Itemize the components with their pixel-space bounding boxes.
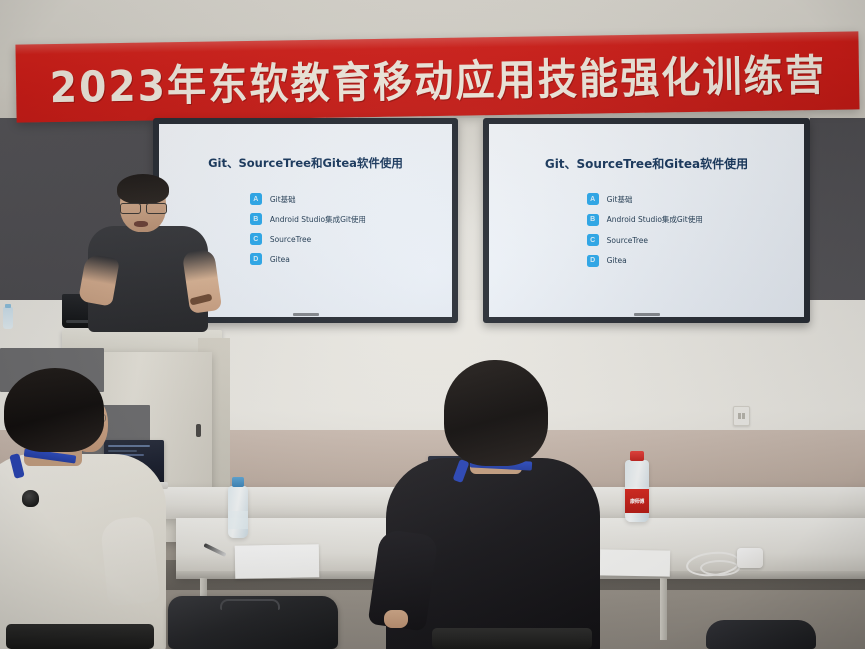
bullet-label-c: SourceTree xyxy=(270,235,311,244)
bag-on-floor[interactable] xyxy=(706,620,816,649)
coiled-cable xyxy=(700,560,740,576)
bullet-badge-a: A xyxy=(587,193,599,205)
water-bottle-red-cap[interactable]: 康师傅 xyxy=(625,460,649,522)
display-screen-right[interactable]: Git、SourceTree和Gitea软件使用 A Git基础 B Andro… xyxy=(483,118,810,323)
bullet-label-d: Gitea xyxy=(607,256,627,265)
bottle-label xyxy=(228,511,248,529)
student-hand xyxy=(384,610,408,628)
bullet-label-d: Gitea xyxy=(270,255,290,264)
glasses-icon xyxy=(120,203,167,212)
blackboard-right-edge xyxy=(810,118,865,318)
slide-bullet: A Git基础 xyxy=(250,193,366,205)
podium-latch[interactable] xyxy=(196,424,201,437)
bullet-label-b: Android Studio集成Git使用 xyxy=(270,214,366,225)
bottle-cap-icon xyxy=(232,477,244,487)
screen-brand-logo xyxy=(634,313,660,316)
wall-socket-icon xyxy=(733,406,750,426)
slide-bullet: D Gitea xyxy=(250,253,366,265)
slide-bullet: A Git基础 xyxy=(587,193,703,205)
slide-bullets-left: A Git基础 B Android Studio集成Git使用 C Source… xyxy=(250,193,366,273)
banner-text: 2023年东软教育移动应用技能强化训练营 xyxy=(49,40,826,114)
sheet-of-paper[interactable] xyxy=(235,544,320,578)
screen-brand-logo xyxy=(293,313,319,316)
bullet-badge-a: A xyxy=(250,193,262,205)
slide-bullet: B Android Studio集成Git使用 xyxy=(587,214,703,226)
student-white-shirt xyxy=(0,368,170,649)
bullet-badge-c: C xyxy=(250,233,262,245)
slide-surface-right: Git、SourceTree和Gitea软件使用 A Git基础 B Andro… xyxy=(489,124,804,317)
chair[interactable] xyxy=(6,624,154,649)
bullet-badge-b: B xyxy=(250,213,262,225)
sheet-of-paper[interactable] xyxy=(600,549,670,576)
student-arm xyxy=(100,516,161,607)
student-hair xyxy=(4,368,104,452)
water-bottle-on-ledge xyxy=(3,307,13,329)
instructor xyxy=(82,178,222,338)
bullet-label-c: SourceTree xyxy=(607,236,648,245)
backpack-on-floor[interactable] xyxy=(168,596,338,649)
bullet-badge-c: C xyxy=(587,234,599,246)
water-bottle-blue-cap[interactable] xyxy=(228,486,248,538)
instructor-mouth xyxy=(134,221,148,227)
slide-bullet: B Android Studio集成Git使用 xyxy=(250,213,366,225)
slide-bullet: C SourceTree xyxy=(250,233,366,245)
bullet-label-b: Android Studio集成Git使用 xyxy=(607,214,703,225)
classroom-scene: 2023年东软教育移动应用技能强化训练营 Git、SourceTree和Gite… xyxy=(0,0,865,649)
bullet-badge-d: D xyxy=(250,253,262,265)
bullet-label-a: Git基础 xyxy=(270,194,296,205)
slide-title-right: Git、SourceTree和Gitea软件使用 xyxy=(489,155,804,172)
desk-leg xyxy=(660,578,667,640)
shirt-emblem-icon xyxy=(22,490,39,507)
bottle-cap-icon xyxy=(630,451,644,461)
slide-bullets-right: A Git基础 B Android Studio集成Git使用 C Source… xyxy=(587,193,703,275)
bullet-badge-d: D xyxy=(587,255,599,267)
slide-bullet: D Gitea xyxy=(587,255,703,267)
power-adapter[interactable] xyxy=(737,548,763,568)
slide-title-left: Git、SourceTree和Gitea软件使用 xyxy=(159,155,452,171)
bullet-label-a: Git基础 xyxy=(607,194,633,205)
event-banner: 2023年东软教育移动应用技能强化训练营 xyxy=(15,31,859,122)
bottle-label: 康师傅 xyxy=(625,489,649,513)
student-black-shirt xyxy=(378,360,608,649)
slide-bullet: C SourceTree xyxy=(587,234,703,246)
chair[interactable] xyxy=(432,628,592,649)
student-hair xyxy=(444,360,548,466)
instructor-hair xyxy=(117,174,169,204)
bullet-badge-b: B xyxy=(587,214,599,226)
